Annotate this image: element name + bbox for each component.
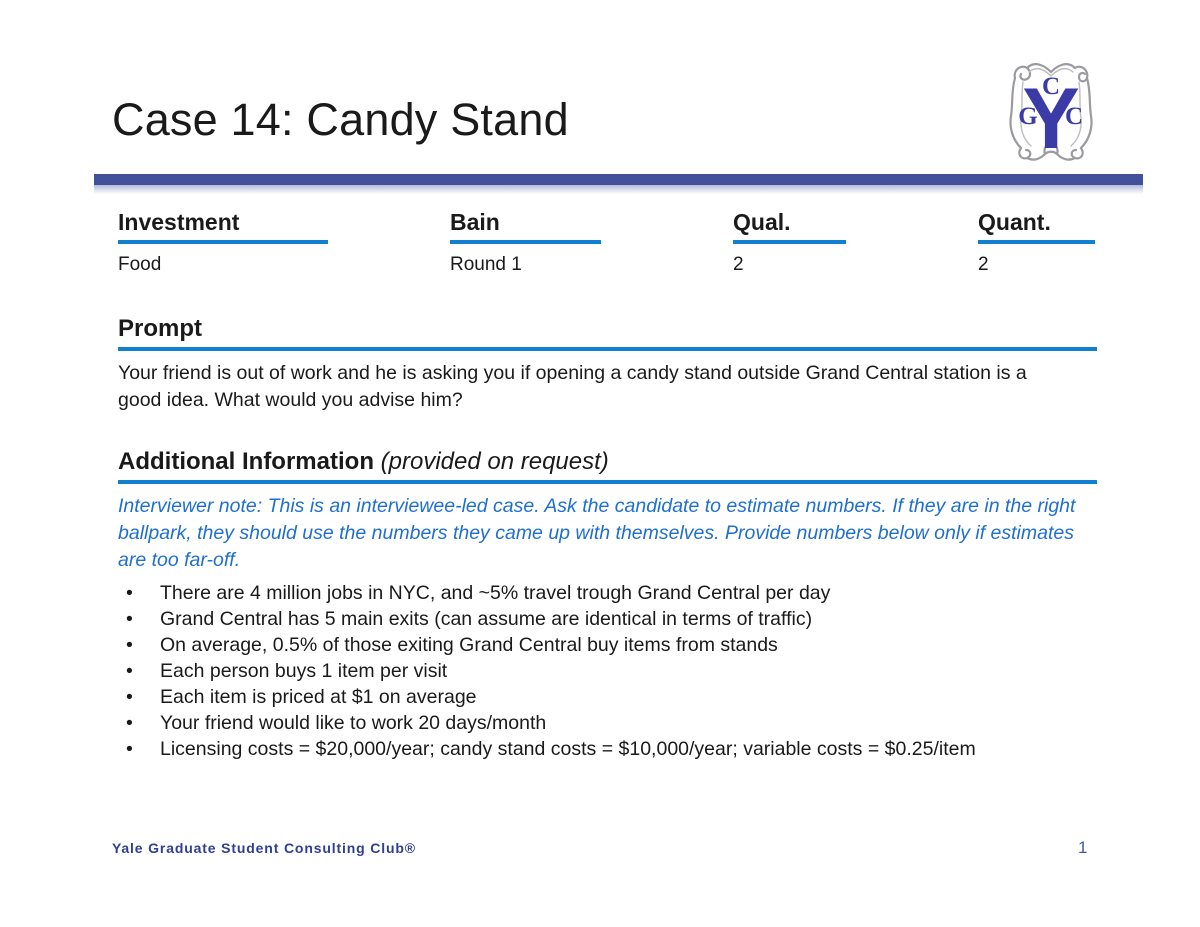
additional-info-bullet-list: • There are 4 million jobs in NYC, and ~… bbox=[118, 580, 1097, 762]
title-divider bbox=[94, 174, 1143, 185]
page-title: Case 14: Candy Stand bbox=[112, 96, 569, 143]
footer-organization: Yale Graduate Student Consulting Club® bbox=[112, 840, 416, 856]
interviewer-note: Interviewer note: This is an interviewee… bbox=[118, 493, 1078, 574]
bullet-marker-icon: • bbox=[126, 632, 133, 658]
list-item: • Grand Central has 5 main exits (can as… bbox=[118, 606, 1097, 632]
list-item: • On average, 0.5% of those exiting Gran… bbox=[118, 632, 1097, 658]
slide: Case 14: Candy Stand Y C bbox=[0, 0, 1200, 927]
meta-header-investment: Investment bbox=[118, 208, 328, 236]
list-item-label: Licensing costs = $20,000/year; candy st… bbox=[160, 738, 976, 760]
list-item-label: Each item is priced at $1 on average bbox=[160, 686, 477, 708]
list-item: • Each person buys 1 item per visit bbox=[118, 658, 1097, 684]
footer-page-number: 1 bbox=[1078, 838, 1087, 858]
prompt-rule bbox=[118, 347, 1097, 351]
svg-text:G: G bbox=[1018, 103, 1037, 130]
additional-info-section: Additional Information (provided on requ… bbox=[118, 447, 1097, 762]
meta-column-bain: Bain Round 1 bbox=[450, 208, 601, 277]
title-divider-shadow bbox=[94, 185, 1143, 194]
bullet-marker-icon: • bbox=[126, 658, 133, 684]
bullet-marker-icon: • bbox=[126, 606, 133, 632]
meta-column-investment: Investment Food bbox=[118, 208, 328, 277]
additional-info-heading-suffix: (provided on request) bbox=[381, 448, 609, 475]
list-item-label: Each person buys 1 item per visit bbox=[160, 660, 447, 682]
additional-info-heading: Additional Information (provided on requ… bbox=[118, 447, 1097, 477]
bullet-marker-icon: • bbox=[126, 736, 133, 762]
additional-info-heading-main: Additional Information bbox=[118, 448, 374, 475]
prompt-body: Your friend is out of work and he is ask… bbox=[118, 360, 1048, 414]
svg-text:C: C bbox=[1065, 103, 1083, 130]
svg-text:C: C bbox=[1042, 73, 1060, 100]
meta-underline-quant bbox=[978, 240, 1095, 244]
prompt-section: Prompt Your friend is out of work and he… bbox=[118, 314, 1097, 414]
bullet-marker-icon: • bbox=[126, 710, 133, 736]
meta-value-bain: Round 1 bbox=[450, 253, 601, 277]
additional-info-rule bbox=[118, 480, 1097, 484]
case-meta-table: Investment Food Bain Round 1 Qual. 2 Qua… bbox=[0, 208, 1200, 280]
meta-underline-investment bbox=[118, 240, 328, 244]
bullet-marker-icon: • bbox=[126, 580, 133, 606]
list-item-label: There are 4 million jobs in NYC, and ~5%… bbox=[160, 582, 830, 604]
meta-value-qual: 2 bbox=[733, 253, 846, 277]
meta-header-quant: Quant. bbox=[978, 208, 1095, 236]
meta-column-qual: Qual. 2 bbox=[733, 208, 846, 277]
meta-value-quant: 2 bbox=[978, 253, 1095, 277]
prompt-heading: Prompt bbox=[118, 314, 1097, 344]
meta-header-qual: Qual. bbox=[733, 208, 846, 236]
list-item-label: Your friend would like to work 20 days/m… bbox=[160, 712, 546, 734]
bullet-marker-icon: • bbox=[126, 684, 133, 710]
meta-value-investment: Food bbox=[118, 253, 328, 277]
list-item: • Licensing costs = $20,000/year; candy … bbox=[118, 736, 1097, 762]
meta-underline-qual bbox=[733, 240, 846, 244]
list-item: • There are 4 million jobs in NYC, and ~… bbox=[118, 580, 1097, 606]
meta-underline-bain bbox=[450, 240, 601, 244]
ygcc-crest-logo: Y C G C bbox=[993, 48, 1109, 166]
list-item-label: Grand Central has 5 main exits (can assu… bbox=[160, 608, 812, 630]
list-item: • Your friend would like to work 20 days… bbox=[118, 710, 1097, 736]
meta-header-bain: Bain bbox=[450, 208, 601, 236]
meta-column-quant: Quant. 2 bbox=[978, 208, 1095, 277]
list-item: • Each item is priced at $1 on average bbox=[118, 684, 1097, 710]
list-item-label: On average, 0.5% of those exiting Grand … bbox=[160, 634, 778, 656]
